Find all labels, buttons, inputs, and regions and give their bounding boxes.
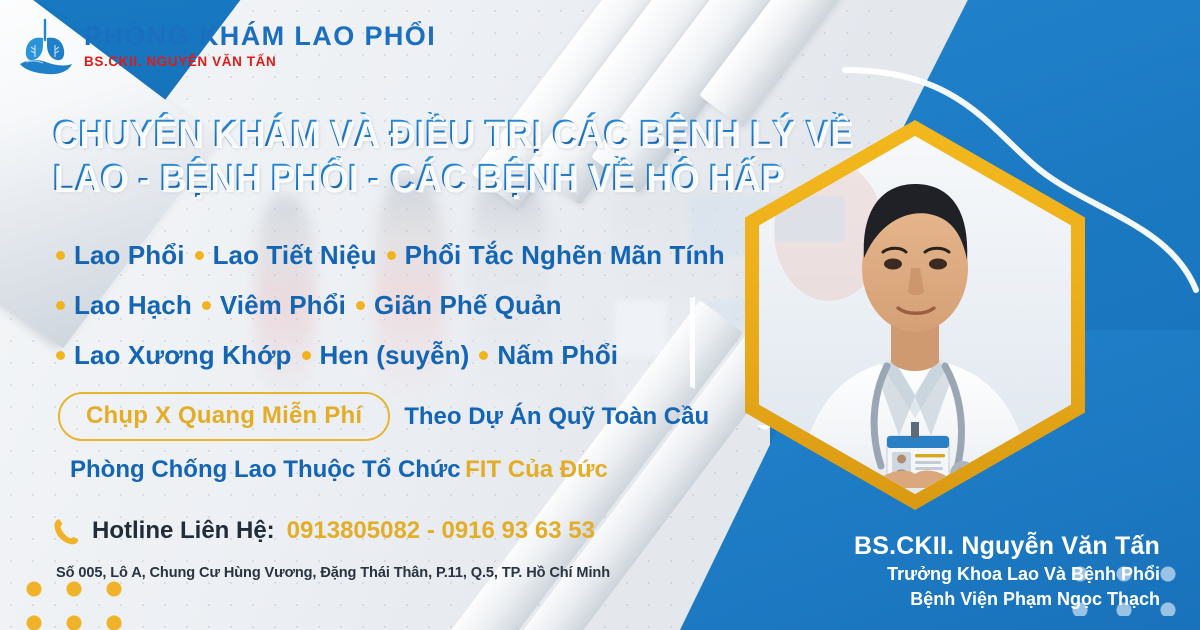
headline-line-1: CHUYÊN KHÁM VÀ ĐIỀU TRỊ CÁC BỆNH LÝ VỀ	[52, 112, 852, 156]
bullet-dot-icon	[302, 351, 311, 360]
service-label: Lao Hạch	[74, 290, 192, 321]
service-label: Phổi Tắc Nghẽn Mãn Tính	[405, 240, 725, 271]
doctor-name: BS.CKII. Nguyễn Văn Tấn	[740, 531, 1160, 562]
service-row: Lao Phổi Lao Tiết Niệu Phổi Tắc Nghẽn Mã…	[56, 240, 725, 271]
bullet-dot-icon	[56, 251, 65, 260]
service-label: Viêm Phổi	[220, 290, 346, 321]
free-xray-badge[interactable]: Chụp X Quang Miễn Phí	[58, 392, 390, 441]
service-label: Lao Phổi	[74, 240, 185, 271]
bullet-dot-icon	[202, 301, 211, 310]
service-label: Giãn Phế Quản	[374, 290, 562, 321]
bullet-dot-icon	[479, 351, 488, 360]
promo-org-prefix: Phòng Chống Lao Thuộc Tổ Chức	[70, 456, 461, 483]
hotline-numbers[interactable]: 0913805082 - 0916 93 63 53	[287, 517, 595, 545]
list-item: Lao Phổi	[56, 240, 185, 271]
list-item: Lao Tiết Niệu	[195, 240, 377, 271]
bullet-dot-icon	[56, 351, 65, 360]
promo-row: Chụp X Quang Miễn Phí Theo Dự Án Quỹ Toà…	[58, 392, 709, 441]
doctor-role-line-2: Bệnh Viện Phạm Ngọc Thạch	[740, 587, 1160, 612]
free-xray-badge-label: Chụp X Quang Miễn Phí	[86, 402, 362, 429]
list-item: Lao Hạch	[56, 290, 192, 321]
list-item: Giãn Phế Quản	[356, 290, 562, 321]
service-label: Lao Tiết Niệu	[213, 240, 377, 271]
headline-block: CHUYÊN KHÁM VÀ ĐIỀU TRỊ CÁC BỆNH LÝ VỀ L…	[52, 112, 913, 200]
list-item: Hen (suyễn)	[302, 340, 470, 371]
clinic-promo-banner: PHÒNG KHÁM LAO PHỔI BS.CKII. NGUYỄN VĂN …	[0, 0, 1200, 630]
promo-global-fund-text: Theo Dự Án Quỹ Toàn Cầu	[404, 403, 709, 431]
list-item: Nấm Phổi	[479, 340, 618, 371]
bullet-dot-icon	[56, 301, 65, 310]
bullet-dot-icon	[356, 301, 365, 310]
brand-doctor-subtitle: BS.CKII. NGUYỄN VĂN TẤN	[84, 54, 436, 69]
clinic-name: PHÒNG KHÁM LAO PHỔI	[84, 23, 436, 50]
hotline-label: Hotline Liên Hệ:	[92, 517, 275, 545]
hotline-row[interactable]: Hotline Liên Hệ: 0913805082 - 0916 93 63…	[52, 516, 595, 546]
service-label: Lao Xương Khớp	[74, 340, 292, 371]
service-label: Nấm Phổi	[497, 340, 618, 371]
service-label: Hen (suyễn)	[320, 340, 470, 371]
brand-logo-block[interactable]: PHÒNG KHÁM LAO PHỔI BS.CKII. NGUYỄN VĂN …	[16, 14, 436, 76]
doctor-role-line-1: Trưởng Khoa Lao Và Bệnh Phổi	[740, 562, 1160, 587]
clinic-address: Số 005, Lô A, Chung Cư Hùng Vương, Đặng …	[56, 564, 610, 581]
lungs-in-hand-icon	[16, 14, 76, 76]
promo-line-2: Phòng Chống Lao Thuộc Tổ Chức FIT Của Đứ…	[70, 456, 608, 484]
list-item: Viêm Phổi	[202, 290, 346, 321]
list-item: Lao Xương Khớp	[56, 340, 292, 371]
promo-org-highlight: FIT Của Đức	[465, 456, 608, 483]
list-item: Phổi Tắc Nghẽn Mãn Tính	[387, 240, 725, 271]
headline-line-2: LAO - BỆNH PHỔI - CÁC BỆNH VỀ HÔ HẤP	[52, 156, 852, 200]
service-row: Lao Hạch Viêm Phổi Giãn Phế Quản	[56, 290, 725, 321]
bullet-dot-icon	[195, 251, 204, 260]
bullet-dot-icon	[387, 251, 396, 260]
phone-handset-icon	[52, 516, 80, 546]
doctor-caption: BS.CKII. Nguyễn Văn Tấn Trưởng Khoa Lao …	[740, 531, 1160, 612]
service-row: Lao Xương Khớp Hen (suyễn) Nấm Phổi	[56, 340, 725, 371]
service-list: Lao Phổi Lao Tiết Niệu Phổi Tắc Nghẽn Mã…	[56, 240, 725, 390]
